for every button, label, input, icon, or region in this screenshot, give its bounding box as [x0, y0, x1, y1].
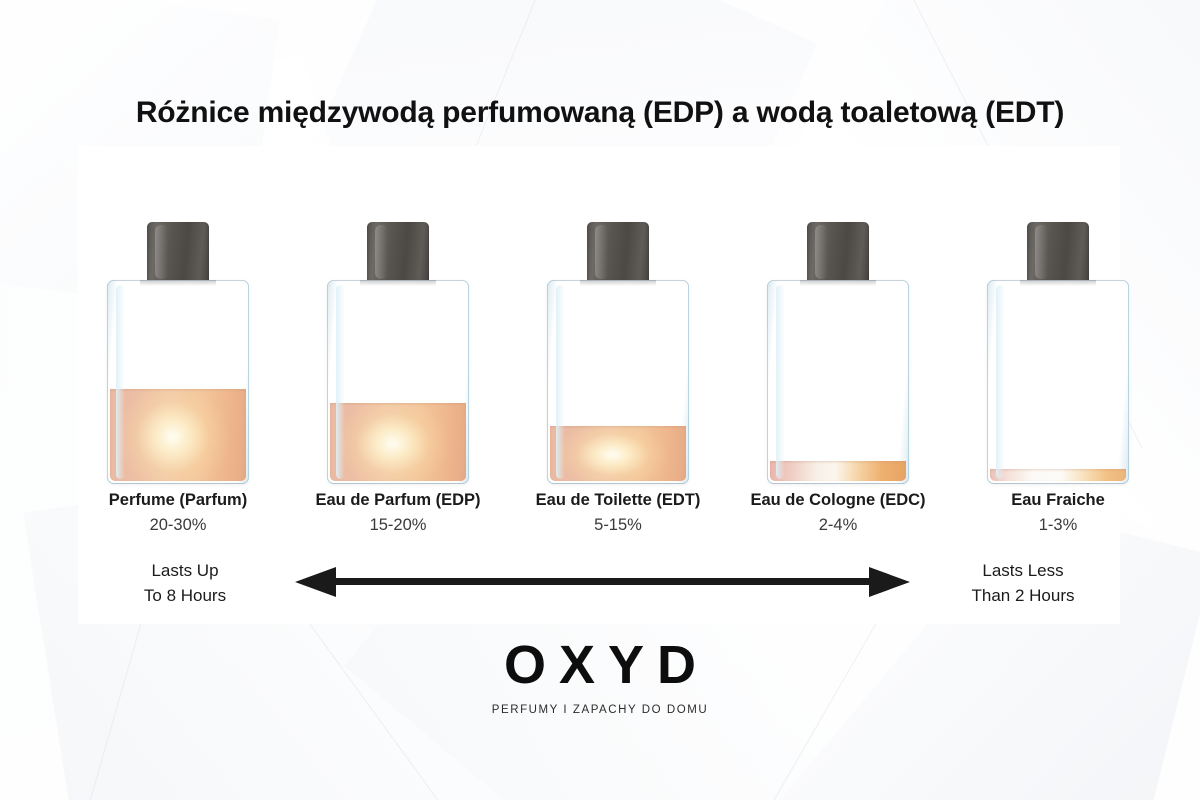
longevity-scale: Lasts Up To 8 Hours Lasts Less Than 2 Ho…	[78, 556, 1120, 610]
bottle-cap-icon	[587, 222, 649, 284]
bottle-liquid	[330, 403, 466, 481]
logo-wordmark: OXYD	[0, 636, 1200, 694]
caption-edc: Eau de Cologne (EDC) 2-4%	[723, 490, 953, 535]
caption-perfume: Perfume (Parfum) 20-30%	[63, 490, 293, 535]
bottle-glass	[327, 280, 469, 484]
bottle-liquid	[110, 389, 246, 481]
caption-percent: 2-4%	[723, 515, 953, 535]
caption-percent: 20-30%	[63, 515, 293, 535]
bottle-cap-icon	[807, 222, 869, 284]
bottle-edp	[327, 222, 469, 484]
longevity-left-line1: Lasts Up	[90, 558, 280, 583]
bottle-glass	[107, 280, 249, 484]
bottle-liquid	[770, 461, 906, 481]
caption-percent: 1-3%	[943, 515, 1173, 535]
caption-percent: 5-15%	[503, 515, 733, 535]
bottle-glass	[547, 280, 689, 484]
longevity-left-line2: To 8 Hours	[90, 583, 280, 608]
caption-name: Eau Fraiche	[943, 490, 1173, 510]
longevity-right-line2: Than 2 Hours	[928, 583, 1118, 608]
page-title: Różnice międzywodą perfumowaną (EDP) a w…	[0, 96, 1200, 130]
bottle-cap-icon	[367, 222, 429, 284]
longevity-right-line1: Lasts Less	[928, 558, 1118, 583]
bottle-glass	[767, 280, 909, 484]
caption-row: Perfume (Parfum) 20-30% Eau de Parfum (E…	[78, 490, 1120, 548]
bottle-row	[78, 222, 1120, 484]
bottle-edt	[547, 222, 689, 484]
bottle-slot-edt	[526, 222, 710, 484]
bottle-perfume	[107, 222, 249, 484]
bottle-eau-fraiche	[987, 222, 1129, 484]
arrow-left-head-icon	[295, 567, 336, 597]
infographic-page: Różnice międzywodą perfumowaną (EDP) a w…	[0, 0, 1200, 800]
bottle-slot-edp	[306, 222, 490, 484]
caption-name: Eau de Cologne (EDC)	[723, 490, 953, 510]
bottle-glass	[987, 280, 1129, 484]
logo-tagline: PERFUMY I ZAPACHY DO DOMU	[0, 703, 1200, 717]
caption-percent: 15-20%	[283, 515, 513, 535]
longevity-label-right: Lasts Less Than 2 Hours	[928, 558, 1118, 608]
bottle-liquid	[990, 469, 1126, 481]
caption-name: Perfume (Parfum)	[63, 490, 293, 510]
bottle-cap-icon	[147, 222, 209, 284]
arrow-shaft	[334, 578, 871, 585]
caption-edp: Eau de Parfum (EDP) 15-20%	[283, 490, 513, 535]
bottle-edc	[767, 222, 909, 484]
caption-name: Eau de Toilette (EDT)	[503, 490, 733, 510]
caption-name: Eau de Parfum (EDP)	[283, 490, 513, 510]
caption-eau-fraiche: Eau Fraiche 1-3%	[943, 490, 1173, 535]
bottle-cap-icon	[1027, 222, 1089, 284]
brand-logo: OXYD PERFUMY I ZAPACHY DO DOMU	[0, 636, 1200, 717]
arrow-right-head-icon	[869, 567, 910, 597]
bottle-slot-perfume	[86, 222, 270, 484]
longevity-label-left: Lasts Up To 8 Hours	[90, 558, 280, 608]
bottle-liquid	[550, 426, 686, 481]
bottle-slot-edc	[746, 222, 930, 484]
bottle-slot-eau-fraiche	[966, 222, 1150, 484]
caption-edt: Eau de Toilette (EDT) 5-15%	[503, 490, 733, 535]
